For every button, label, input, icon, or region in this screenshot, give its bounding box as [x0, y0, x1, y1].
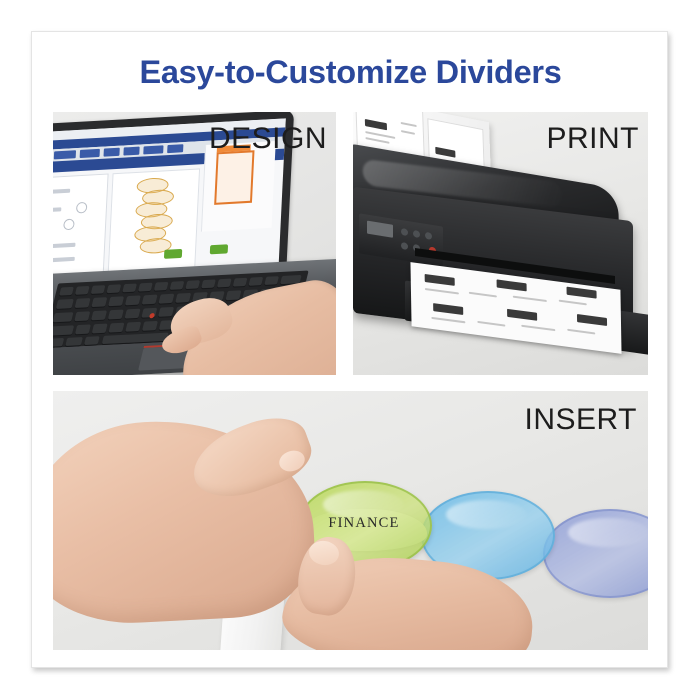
screen-action-button-a[interactable]: [164, 249, 182, 259]
tab-gloss-purple: [568, 518, 648, 547]
panel-label-insert: INSERT: [525, 403, 637, 437]
screen-action-button-b[interactable]: [210, 244, 228, 254]
product-image: Easy-to-Customize Dividers: [0, 0, 700, 700]
product-card: Easy-to-Customize Dividers: [31, 31, 668, 668]
panel-label-design: DESIGN: [209, 122, 327, 156]
tab-gloss-blue: [446, 500, 527, 529]
screen-highlight-box: [214, 150, 254, 205]
panel-insert: FINANCE INSERT: [53, 391, 648, 650]
insert-label-text: FINANCE: [301, 515, 427, 532]
screen-form-panel: [53, 173, 109, 281]
panel-design: DESIGN: [53, 112, 336, 375]
page-title: Easy-to-Customize Dividers: [32, 54, 669, 91]
printer-lcd-display: [367, 221, 393, 238]
panel-label-print: PRINT: [547, 122, 640, 156]
panel-print: PRINT: [353, 112, 648, 375]
screen-preview-canvas: [108, 168, 200, 274]
